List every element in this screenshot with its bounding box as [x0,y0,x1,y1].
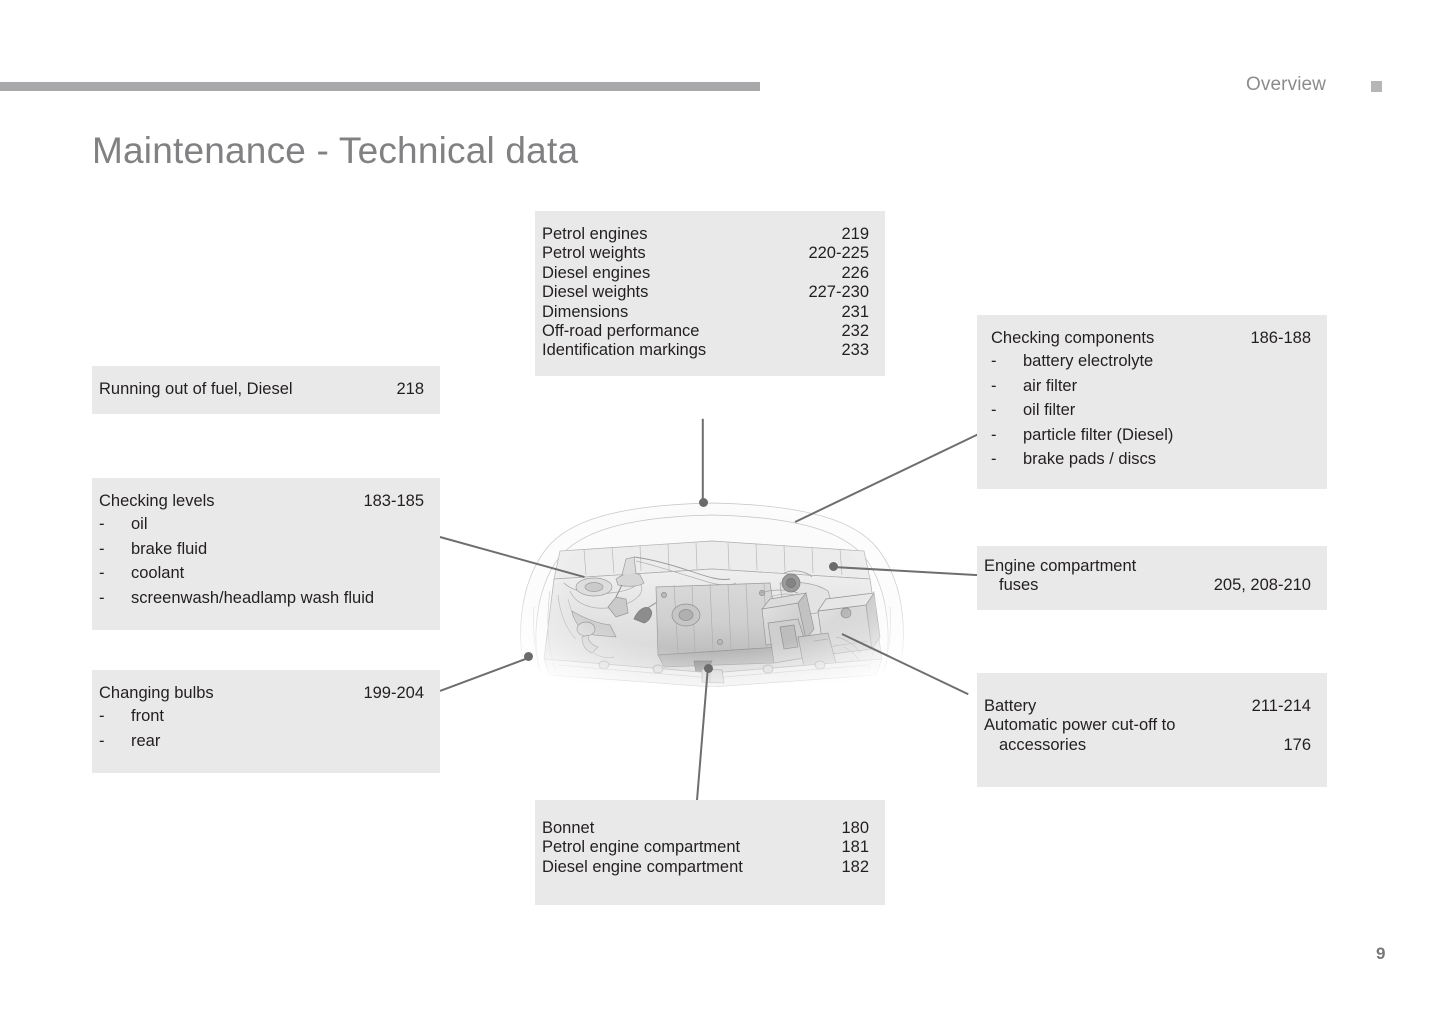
callout-row: Running out of fuel, Diesel 218 [99,380,424,399]
callout-row: Engine compartment [984,557,1311,576]
callout-row-label: Diesel engine compartment [542,858,743,877]
callout-row-page: 205, 208-210 [1214,576,1311,595]
list-dash: - [991,401,1023,420]
callout-row-label: Automatic power cut-off to [984,716,1175,735]
callout-title: Checking components [991,329,1154,348]
header-section-label: Overview [1246,74,1326,96]
page-title: Maintenance - Technical data [92,130,578,172]
callout-list-item-label: oil [131,515,148,534]
callout-row: Petrol weights 220-225 [542,244,869,263]
callout-row-page: 227-230 [808,283,869,302]
callout-list-item: - oil [99,515,424,534]
callout-row: Identification markings 233 [542,341,869,360]
callout-row-label: Battery [984,697,1036,716]
callout-list-item: - front [99,707,424,726]
callout-title: Changing bulbs [99,684,214,703]
callout-list-item-label: coolant [131,564,184,583]
header-rule [0,82,760,91]
list-dash: - [991,450,1023,469]
list-dash: - [99,589,131,608]
callout-row-label: Off-road performance [542,322,699,341]
callout-running-out-of-fuel: Running out of fuel, Diesel 218 [92,366,440,414]
callout-row-label: Petrol engine compartment [542,838,740,857]
callout-list-item: - coolant [99,564,424,583]
callout-title: Checking levels [99,492,215,511]
callout-checking-levels: Checking levels 183-185 - oil - brake fl… [92,478,440,630]
list-dash: - [99,732,131,751]
callout-bonnet: Bonnet 180 Petrol engine compartment 181… [535,800,885,905]
list-dash: - [99,707,131,726]
callout-row-label: Bonnet [542,819,594,838]
callout-row-page: 211-214 [1252,697,1311,716]
list-dash: - [991,426,1023,445]
callout-list-item: - brake pads / discs [984,450,1311,469]
callout-list-item-label: particle filter (Diesel) [1023,426,1173,445]
callout-row-page: 231 [841,303,869,322]
callout-row: Diesel weights 227-230 [542,283,869,302]
callout-row-label: Diesel engines [542,264,650,283]
callout-engine-compartment-fuses: Engine compartment fuses 205, 208-210 [977,546,1327,610]
callout-title-row: Changing bulbs 199-204 [99,684,424,703]
callout-list-item: - brake fluid [99,540,424,559]
callout-page-ref: 199-204 [363,684,424,703]
callout-row-page: 219 [841,225,869,244]
callout-row: Automatic power cut-off to [984,716,1311,735]
callout-row: Dimensions 231 [542,303,869,322]
manual-page: Overview Maintenance - Technical data 9 [0,0,1445,1026]
callout-battery: Battery 211-214 Automatic power cut-off … [977,673,1327,787]
callout-row-page: 180 [841,819,869,838]
callout-row-continuation: fuses 205, 208-210 [984,576,1311,595]
engine-compartment-illustration [498,487,926,687]
callout-row-continuation: accessories 176 [984,736,1311,755]
connector-dot-changing-bulbs [524,652,533,661]
callout-row-label: Diesel weights [542,283,648,302]
callout-row: Diesel engines 226 [542,264,869,283]
list-dash: - [99,564,131,583]
callout-row-page: 226 [841,264,869,283]
callout-row: Diesel engine compartment 182 [542,858,869,877]
callout-row: Battery 211-214 [984,697,1311,716]
callout-list-item-label: battery electrolyte [1023,352,1153,371]
callout-row: Off-road performance 232 [542,322,869,341]
callout-row-label: fuses [984,576,1038,595]
callout-row-page: 232 [841,322,869,341]
list-dash: - [99,515,131,534]
callout-list-item-label: oil filter [1023,401,1075,420]
callout-list-item-label: screenwash/headlamp wash fluid [131,589,374,608]
callout-list-item-label: air filter [1023,377,1077,396]
page-number: 9 [1376,944,1385,964]
connector-dot-technical-data [699,498,708,507]
callout-row-label: Petrol weights [542,244,646,263]
connector-line-bonnet [696,669,709,804]
callout-list-item: - battery electrolyte [984,352,1311,371]
callout-list-item: - rear [99,732,424,751]
list-dash: - [99,540,131,559]
callout-page-ref: 186-188 [1250,329,1311,348]
callout-row-label: Petrol engines [542,225,648,244]
callout-list-item-label: brake pads / discs [1023,450,1156,469]
callout-row: Petrol engine compartment 181 [542,838,869,857]
callout-row: Bonnet 180 [542,819,869,838]
callout-row-page: 182 [841,858,869,877]
callout-checking-components: Checking components 186-188 - battery el… [977,315,1327,489]
connector-dot-bonnet [704,664,713,673]
square-marker-icon [1371,81,1382,92]
callout-list-item: - screenwash/headlamp wash fluid [99,589,424,608]
callout-list-item: - air filter [984,377,1311,396]
callout-row-label: Engine compartment [984,557,1136,576]
callout-row-page: 181 [841,838,869,857]
callout-row-page: 218 [396,380,424,399]
callout-list-item-label: brake fluid [131,540,207,559]
connector-dot-engine-fuses [829,562,838,571]
callout-row-page: 176 [1283,736,1311,755]
connector-line-technical-data [702,419,704,503]
callout-list-item-label: front [131,707,164,726]
callout-row-label: Running out of fuel, Diesel [99,380,293,399]
callout-list-item: - particle filter (Diesel) [984,426,1311,445]
callout-title-row: Checking components 186-188 [984,329,1311,348]
callout-row-page: 220-225 [808,244,869,263]
callout-title-row: Checking levels 183-185 [99,492,424,511]
callout-row-label: accessories [984,736,1086,755]
callout-row-label: Identification markings [542,341,706,360]
list-dash: - [991,377,1023,396]
callout-row: Petrol engines 219 [542,225,869,244]
callout-row-label: Dimensions [542,303,628,322]
callout-list-item-label: rear [131,732,160,751]
list-dash: - [991,352,1023,371]
callout-list-item: - oil filter [984,401,1311,420]
callout-technical-data: Petrol engines 219 Petrol weights 220-22… [535,211,885,376]
callout-row-page: 233 [841,341,869,360]
callout-page-ref: 183-185 [363,492,424,511]
callout-changing-bulbs: Changing bulbs 199-204 - front - rear [92,670,440,773]
